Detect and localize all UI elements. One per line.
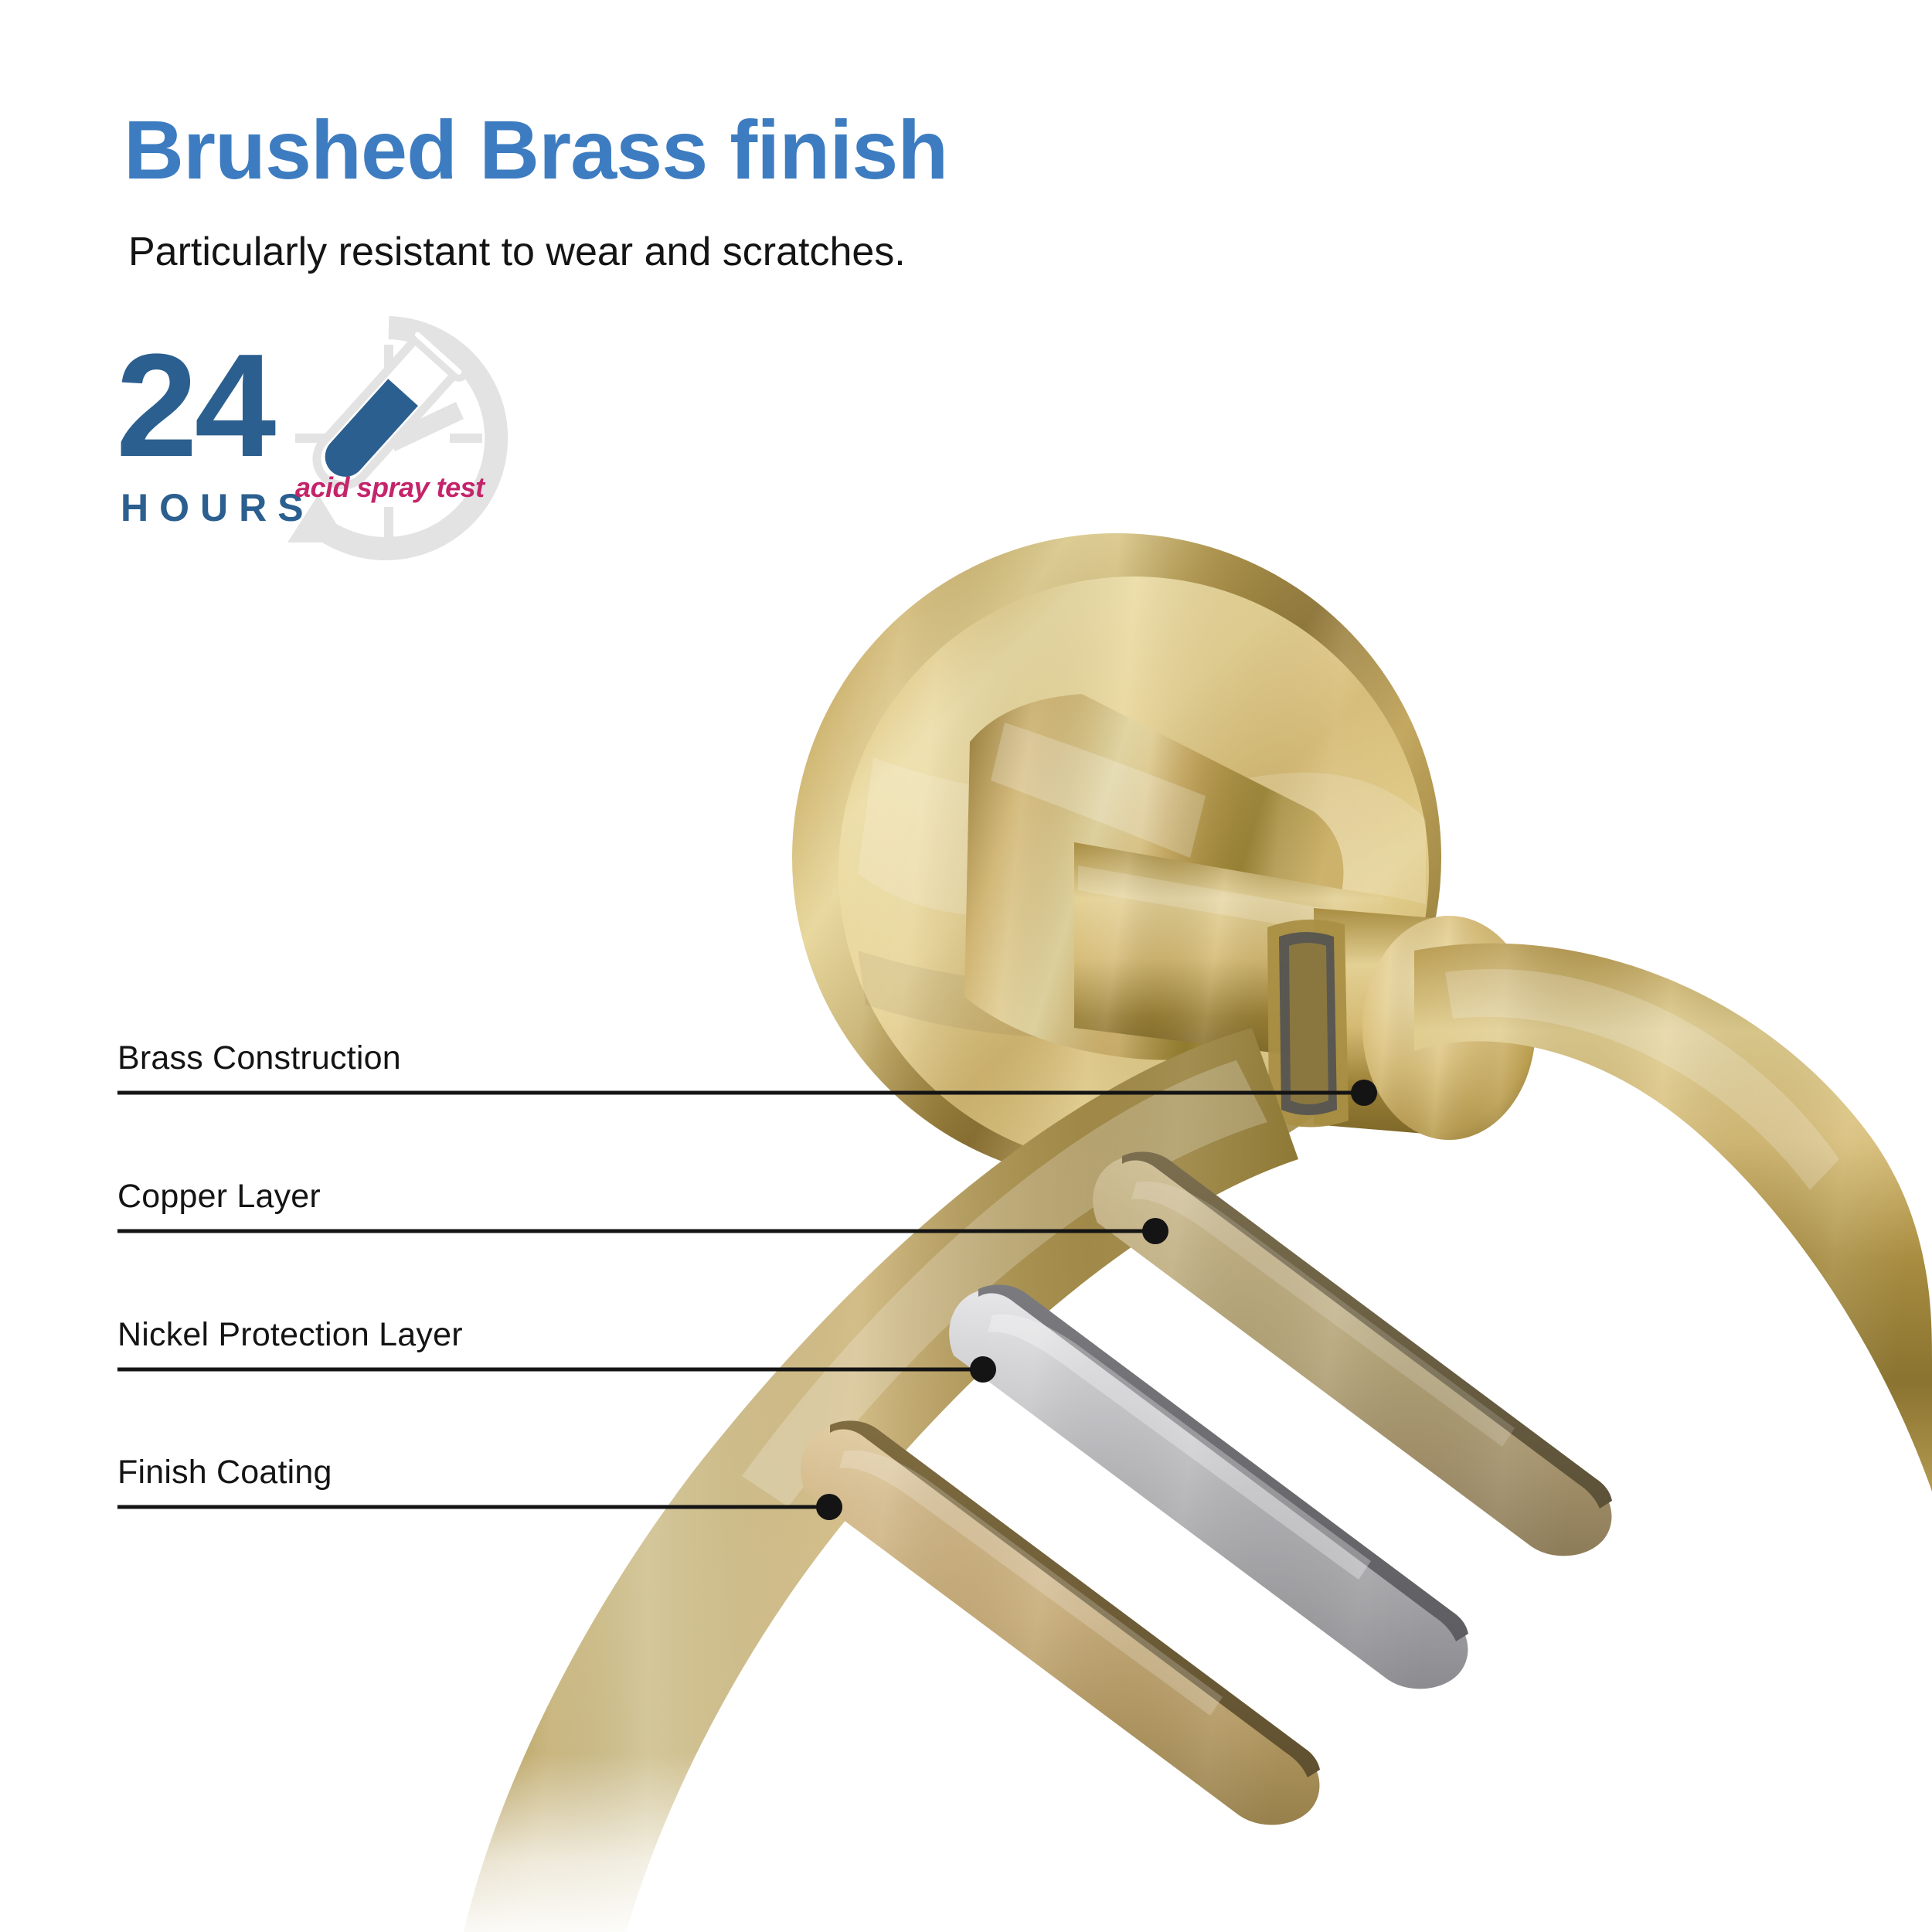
callout-label-3: Nickel Protection Layer (117, 1318, 463, 1352)
callout-dot (970, 1356, 996, 1383)
callout-dot (1351, 1080, 1377, 1106)
callout-dot (816, 1494, 842, 1520)
page-subtitle: Particularly resistant to wear and scrat… (128, 232, 906, 272)
badge-hours-number: 24 (116, 332, 273, 479)
infographic-canvas: Brushed Brass finish Particularly resist… (0, 0, 1932, 1932)
acid-spray-test-label: acid spray test (295, 471, 485, 504)
badge-hours-unit: HOURS (121, 488, 315, 527)
callout-dot (1142, 1218, 1168, 1244)
acid-spray-test-badge: 24 HOURS acid spray test (108, 317, 510, 564)
callout-lines (0, 0, 1932, 1932)
callout-label-2: Copper Layer (117, 1180, 321, 1213)
callout-label-1: Brass Construction (117, 1042, 401, 1075)
callout-label-4: Finish Coating (117, 1456, 332, 1489)
page-title: Brushed Brass finish (124, 108, 947, 192)
